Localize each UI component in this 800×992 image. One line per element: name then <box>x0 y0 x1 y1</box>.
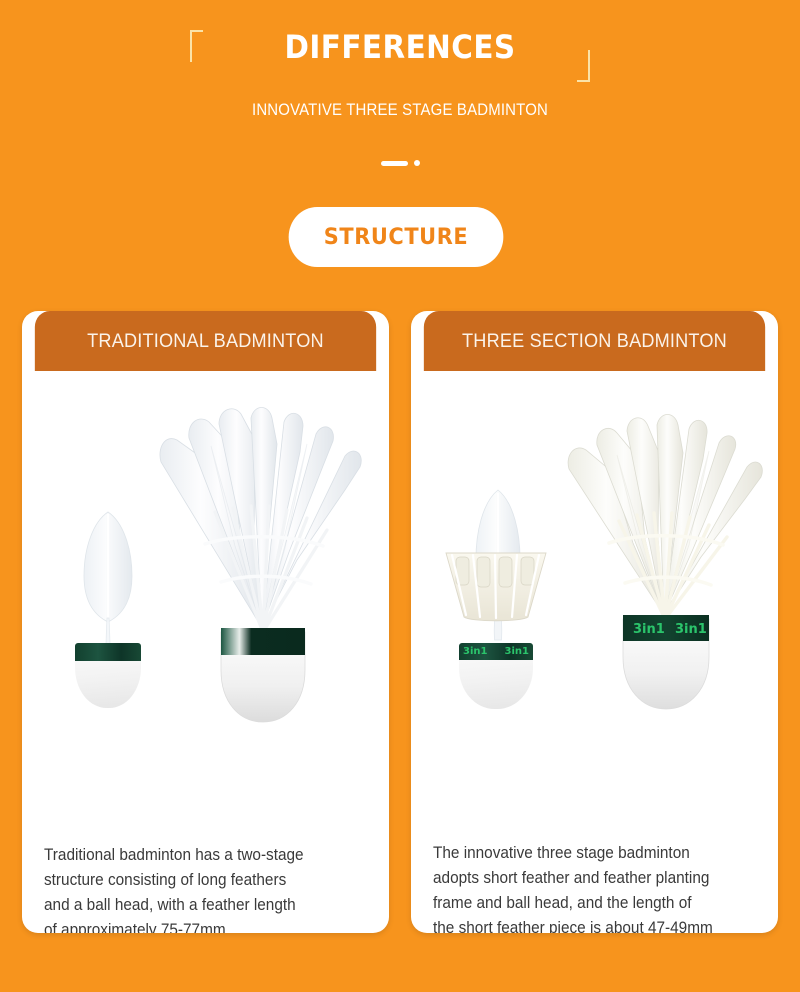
band-label-left: 3in1 <box>463 647 487 657</box>
divider-bar-icon <box>381 161 408 166</box>
feather-planting-frame-icon <box>442 547 550 625</box>
band-label-right: 3in1 <box>505 647 529 657</box>
three-section-shuttlecock-illustration: 3in1 3in1 <box>561 397 771 737</box>
card-body-traditional: Traditional badminton has a two-stage st… <box>22 371 389 933</box>
green-band <box>75 643 141 661</box>
band-label-right: 3in1 <box>675 622 707 637</box>
page-title: DIFFERENCES <box>32 28 768 66</box>
page-subtitle: INNOVATIVE THREE STAGE BADMINTON <box>48 100 752 120</box>
traditional-shuttlecock-illustration <box>155 396 370 741</box>
card-three-section-badminton: THREE SECTION BADMINTON <box>411 311 778 933</box>
band-label-left: 3in1 <box>633 622 665 637</box>
card-body-three-section: 3in1 3in1 <box>411 371 778 933</box>
illustration-three-section: 3in1 3in1 <box>411 371 778 776</box>
card-header-three-section: THREE SECTION BADMINTON <box>424 311 765 371</box>
ball-head-traditional <box>75 643 141 708</box>
comparison-cards: TRADITIONAL BADMINTON <box>0 311 800 936</box>
divider-dot-icon <box>414 160 420 166</box>
illustration-traditional <box>22 371 389 776</box>
ball-head-three-section: 3in1 3in1 <box>459 643 533 709</box>
card-traditional-badminton: TRADITIONAL BADMINTON <box>22 311 389 933</box>
card-caption-traditional: Traditional badminton has a two-stage st… <box>44 843 389 933</box>
card-header-traditional: TRADITIONAL BADMINTON <box>35 311 376 371</box>
card-caption-three-section: The innovative three stage badminton ado… <box>433 841 778 933</box>
green-band-3in1: 3in1 3in1 <box>459 643 533 660</box>
divider <box>0 160 800 166</box>
hero-section: DIFFERENCES INNOVATIVE THREE STAGE BADMI… <box>0 0 800 290</box>
structure-button[interactable]: STRUCTURE <box>289 207 504 267</box>
